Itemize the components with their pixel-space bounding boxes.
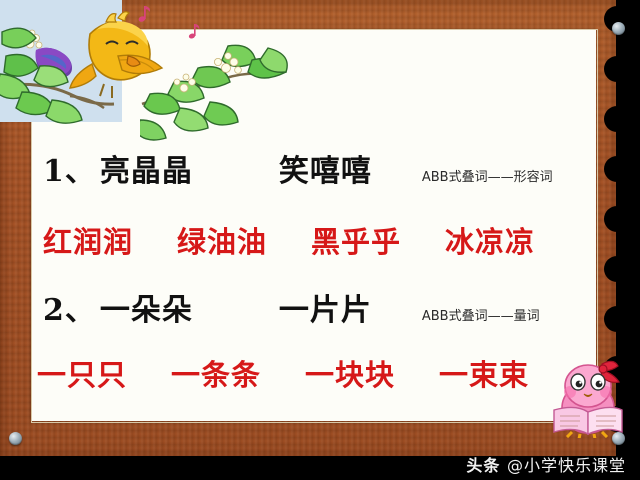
line-1-word-b: 笑嘻嘻 xyxy=(279,146,372,190)
line-2-word-b: 一片片 xyxy=(279,285,372,329)
red-word: 黑乎乎 xyxy=(311,219,401,261)
watermark-handle: @小学快乐课堂 xyxy=(507,456,626,475)
scallop-notch xyxy=(604,256,630,282)
watermark: 头条 @小学快乐课堂 xyxy=(466,452,626,476)
watermark-brand: 头条 xyxy=(466,456,500,475)
scallop-notch xyxy=(604,206,630,232)
red-word: 一块块 xyxy=(305,352,395,394)
red-word: 冰凉凉 xyxy=(445,219,535,261)
red-word: 绿油油 xyxy=(177,219,267,261)
line-1: 1、 亮晶晶 笑嘻嘻 ABB式叠词——形容词 xyxy=(43,146,553,190)
scallop-notch xyxy=(604,156,630,182)
frame-scallop-edge xyxy=(604,0,630,458)
line-2-word-a: 一朵朵 xyxy=(100,285,193,329)
slide-content: 1、 亮晶晶 笑嘻嘻 ABB式叠词——形容词 红润润 绿油油 黑乎乎 冰凉凉 2… xyxy=(31,29,596,421)
scallop-notch xyxy=(604,56,630,82)
red-word: 一束束 xyxy=(439,352,529,394)
line-2: 2、 一朵朵 一片片 ABB式叠词——量词 xyxy=(43,285,540,329)
scallop-notch xyxy=(604,356,630,382)
screw-icon xyxy=(9,9,22,22)
slide-canvas: 1、 亮晶晶 笑嘻嘻 ABB式叠词——形容词 红润润 绿油油 黑乎乎 冰凉凉 2… xyxy=(0,0,640,480)
line-1-word-a: 亮晶晶 xyxy=(100,146,193,190)
line-1-number: 1、 xyxy=(43,146,96,190)
red-word: 红润润 xyxy=(43,219,133,261)
line-2-number: 2、 xyxy=(43,285,96,329)
red-word: 一只只 xyxy=(37,352,127,394)
screw-icon xyxy=(612,432,625,445)
screw-icon xyxy=(612,22,625,35)
red-row-2: 一只只 一条条 一块块 一束束 xyxy=(37,352,529,394)
line-1-note: ABB式叠词——形容词 xyxy=(422,166,553,185)
red-row-1: 红润润 绿油油 黑乎乎 冰凉凉 xyxy=(43,219,535,261)
line-2-note: ABB式叠词——量词 xyxy=(422,305,540,324)
scallop-notch xyxy=(604,406,630,432)
scallop-notch xyxy=(604,306,630,332)
screw-icon xyxy=(9,432,22,445)
red-word: 一条条 xyxy=(171,352,261,394)
scallop-notch xyxy=(604,106,630,132)
